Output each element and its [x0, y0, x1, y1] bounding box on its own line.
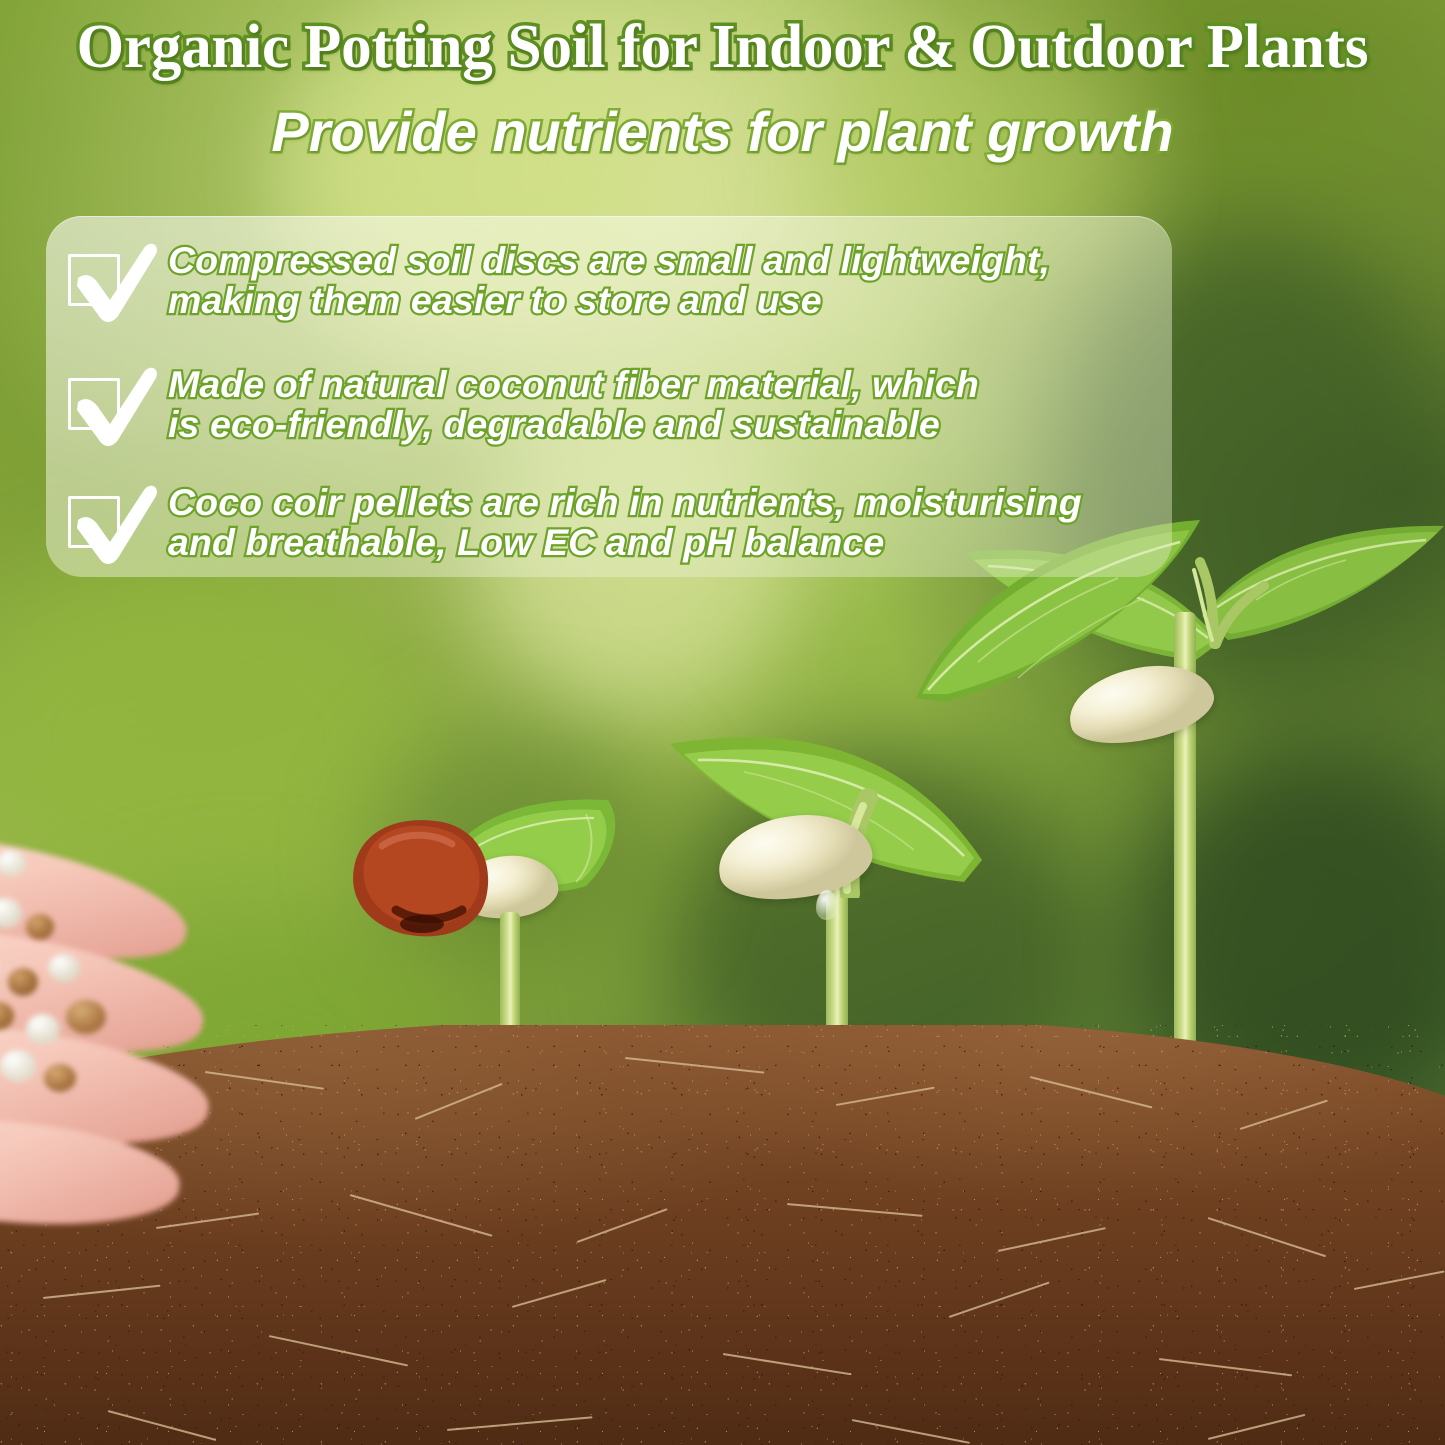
checkbox-checked-icon[interactable]: [68, 372, 126, 430]
list-item-label: Compressed soil discs are small and ligh…: [168, 240, 1050, 320]
seed-coat: [338, 806, 498, 946]
list-item: Made of natural coconut fiber material, …: [68, 364, 1152, 444]
checkbox-checked-icon[interactable]: [68, 248, 126, 306]
page-title: Organic Potting Soil for Indoor & Outdoo…: [11, 16, 1434, 78]
fertilizer-pellet: [44, 1064, 76, 1092]
fertilizer-pellet: [26, 1014, 60, 1044]
list-item: Coco coir pellets are rich in nutrients,…: [68, 482, 1152, 562]
fertilizer-pellet: [8, 968, 38, 996]
list-item-label: Made of natural coconut fiber material, …: [168, 364, 979, 444]
checkbox-checked-icon[interactable]: [68, 490, 126, 548]
page-subtitle: Provide nutrients for plant growth: [0, 104, 1445, 160]
product-infographic: Compressed soil discs are small and ligh…: [0, 0, 1445, 1445]
fertilizer-pellet: [0, 1050, 36, 1082]
hand-with-pellets: [0, 836, 340, 1256]
water-droplet: [816, 890, 838, 920]
list-item: Compressed soil discs are small and ligh…: [68, 240, 1152, 320]
list-item-label: Coco coir pellets are rich in nutrients,…: [168, 482, 1082, 562]
feature-bullet-list: Compressed soil discs are small and ligh…: [46, 216, 1172, 577]
fertilizer-pellet: [66, 1000, 106, 1034]
fertilizer-pellet: [48, 954, 80, 982]
fertilizer-pellet: [26, 914, 54, 940]
